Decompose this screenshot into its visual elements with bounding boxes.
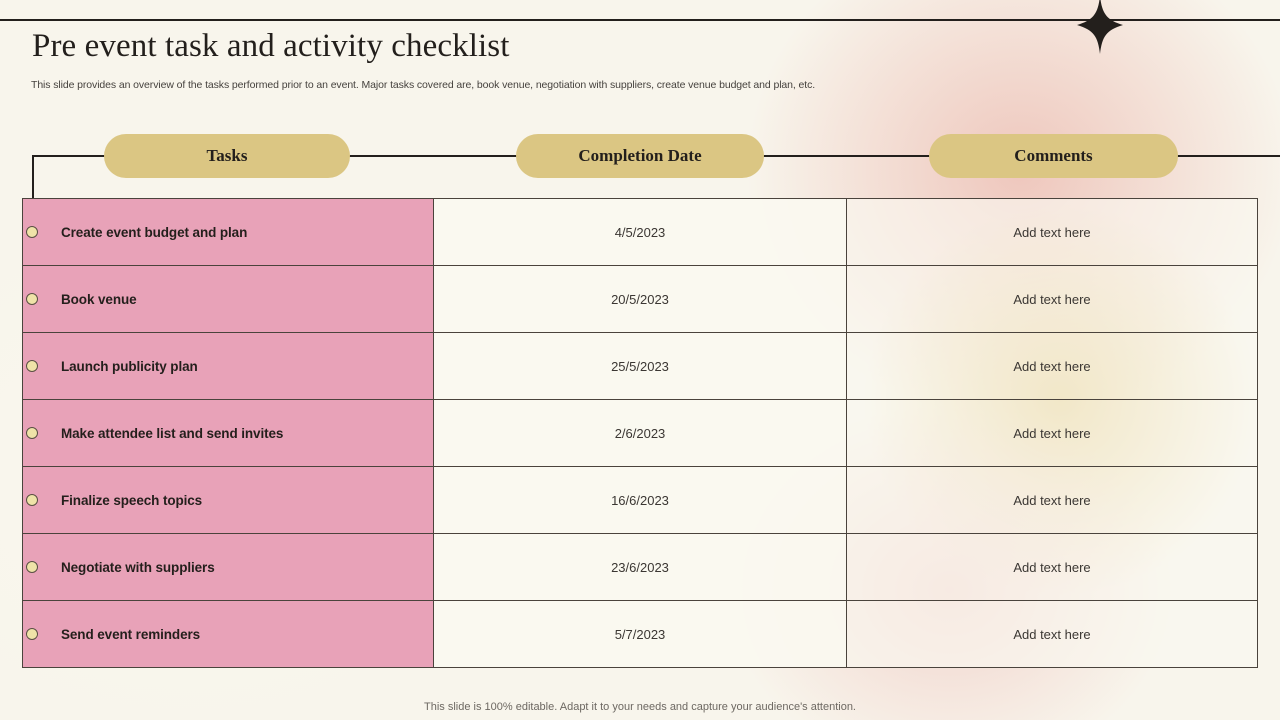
table-row: Send event reminders5/7/2023Add text her… [23, 601, 1257, 667]
table-row: Create event budget and plan4/5/2023Add … [23, 199, 1257, 266]
cell-comment[interactable]: Add text here [847, 400, 1257, 466]
column-header-comments[interactable]: Comments [929, 134, 1178, 178]
cell-task[interactable]: Send event reminders [23, 601, 434, 667]
cell-completion-date[interactable]: 20/5/2023 [434, 266, 847, 332]
cell-comment[interactable]: Add text here [847, 199, 1257, 265]
cell-comment[interactable]: Add text here [847, 266, 1257, 332]
cell-comment[interactable]: Add text here [847, 601, 1257, 667]
row-marker-dot [26, 293, 38, 305]
cell-completion-date[interactable]: 5/7/2023 [434, 601, 847, 667]
slide-canvas: Pre event task and activity checklist Th… [0, 0, 1280, 720]
cell-completion-date[interactable]: 16/6/2023 [434, 467, 847, 533]
table-row: Finalize speech topics16/6/2023Add text … [23, 467, 1257, 534]
column-header-completion-date[interactable]: Completion Date [516, 134, 764, 178]
table-row: Negotiate with suppliers23/6/2023Add tex… [23, 534, 1257, 601]
table-row: Book venue20/5/2023Add text here [23, 266, 1257, 333]
cell-completion-date[interactable]: 4/5/2023 [434, 199, 847, 265]
cell-task[interactable]: Create event budget and plan [23, 199, 434, 265]
row-marker-dot [26, 360, 38, 372]
cell-completion-date[interactable]: 25/5/2023 [434, 333, 847, 399]
cell-task[interactable]: Negotiate with suppliers [23, 534, 434, 600]
cell-task[interactable]: Make attendee list and send invites [23, 400, 434, 466]
cell-comment[interactable]: Add text here [847, 467, 1257, 533]
row-marker-dot [26, 427, 38, 439]
table-row: Launch publicity plan25/5/2023Add text h… [23, 333, 1257, 400]
cell-completion-date[interactable]: 2/6/2023 [434, 400, 847, 466]
page-subtitle: This slide provides an overview of the t… [31, 79, 815, 91]
four-point-star-icon [1077, 0, 1123, 54]
page-title: Pre event task and activity checklist [32, 28, 509, 65]
cell-task[interactable]: Launch publicity plan [23, 333, 434, 399]
cell-task[interactable]: Book venue [23, 266, 434, 332]
cell-comment[interactable]: Add text here [847, 333, 1257, 399]
row-marker-dot [26, 226, 38, 238]
cell-completion-date[interactable]: 23/6/2023 [434, 534, 847, 600]
column-header-tasks[interactable]: Tasks [104, 134, 350, 178]
cell-comment[interactable]: Add text here [847, 534, 1257, 600]
footer-note: This slide is 100% editable. Adapt it to… [0, 701, 1280, 713]
table-row: Make attendee list and send invites2/6/2… [23, 400, 1257, 467]
checklist-table: Create event budget and plan4/5/2023Add … [22, 198, 1258, 668]
cell-task[interactable]: Finalize speech topics [23, 467, 434, 533]
